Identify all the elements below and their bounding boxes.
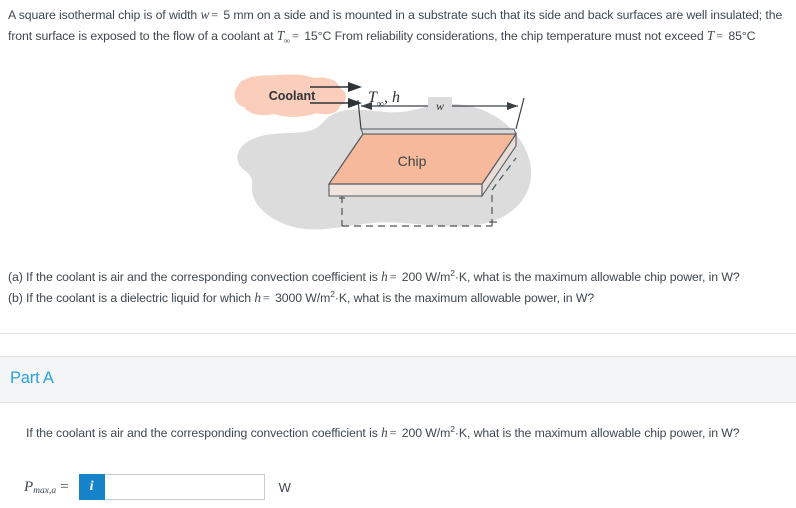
subq-b-tail: ·K, what is the maximum allowable power,… [335, 291, 594, 305]
subq-a-prefix: (a) If the coolant is air and the corres… [8, 270, 381, 284]
width-symbol: w [200, 7, 209, 22]
answer-unit-label: W [279, 480, 291, 495]
width-arrow-right [507, 102, 518, 110]
part-a-question-tail: ·K, what is the maximum allowable chip p… [455, 426, 740, 440]
coolant-label: Coolant [269, 89, 316, 103]
subq-b-symbol: h [254, 290, 261, 305]
flow-arrowhead-top [348, 82, 362, 92]
part-a-header: Part A [0, 356, 796, 403]
sub-question-b: (b) If the coolant is a dielectric liqui… [8, 288, 790, 309]
chip-top-back-strip [361, 129, 516, 134]
answer-input[interactable] [105, 474, 265, 500]
coolant-temp-symbol: T [277, 28, 284, 43]
part-a-question-symbol: h [381, 425, 388, 440]
chip-side-face [329, 184, 482, 196]
width-value: 5 mm [223, 8, 253, 22]
subq-b-value: 3000 W/m [275, 291, 330, 305]
part-a-question: If the coolant is air and the correspond… [26, 423, 774, 444]
equals-sign-2: = [290, 29, 301, 43]
section-divider [0, 333, 796, 334]
answer-variable-label: Pmax,a= [24, 479, 69, 496]
subq-b-equals: = [261, 291, 272, 305]
chip-label: Chip [398, 153, 427, 169]
problem-page: A square isothermal chip is of width w= … [0, 0, 796, 508]
stem-text-1: A square isothermal chip is of width [8, 8, 200, 22]
sub-questions: (a) If the coolant is air and the corres… [8, 267, 790, 308]
answer-row: Pmax,a= i W [24, 474, 291, 500]
chip-diagram: Chip w Coolant T∞, h [206, 74, 586, 240]
subq-a-equals: = [388, 270, 399, 284]
answer-symbol: P [24, 479, 33, 495]
flow-label-rest: , h [384, 89, 400, 106]
width-dimension-label: w [436, 99, 444, 113]
equals-sign-3: = [714, 29, 725, 43]
subq-a-tail: ·K, what is the maximum allowable chip p… [455, 270, 740, 284]
stem-text-3: From reliability considerations, the chi… [331, 29, 707, 43]
subq-a-symbol: h [381, 269, 388, 284]
problem-statement: A square isothermal chip is of width w= … [8, 5, 790, 46]
equals-sign-1: = [209, 8, 220, 22]
answer-equals-sign: = [56, 479, 68, 495]
answer-subscript: max,a [33, 486, 56, 496]
info-icon-button[interactable]: i [79, 474, 105, 500]
subq-a-value: 200 W/m [402, 270, 451, 284]
part-a-question-equals: = [388, 426, 399, 440]
flow-label: T∞, h [368, 89, 400, 110]
flow-arrowhead-bottom [348, 98, 362, 108]
subq-b-prefix: (b) If the coolant is a dielectric liqui… [8, 291, 254, 305]
chip-temp-value: 85°C [728, 29, 755, 43]
coolant-temp-value: 15°C [304, 29, 331, 43]
part-a-question-value: 200 W/m [402, 426, 451, 440]
flow-label-subscript: ∞ [377, 99, 384, 110]
part-a-title: Part A [10, 369, 54, 388]
part-a-question-prefix: If the coolant is air and the correspond… [26, 426, 381, 440]
sub-question-a: (a) If the coolant is air and the corres… [8, 267, 790, 288]
